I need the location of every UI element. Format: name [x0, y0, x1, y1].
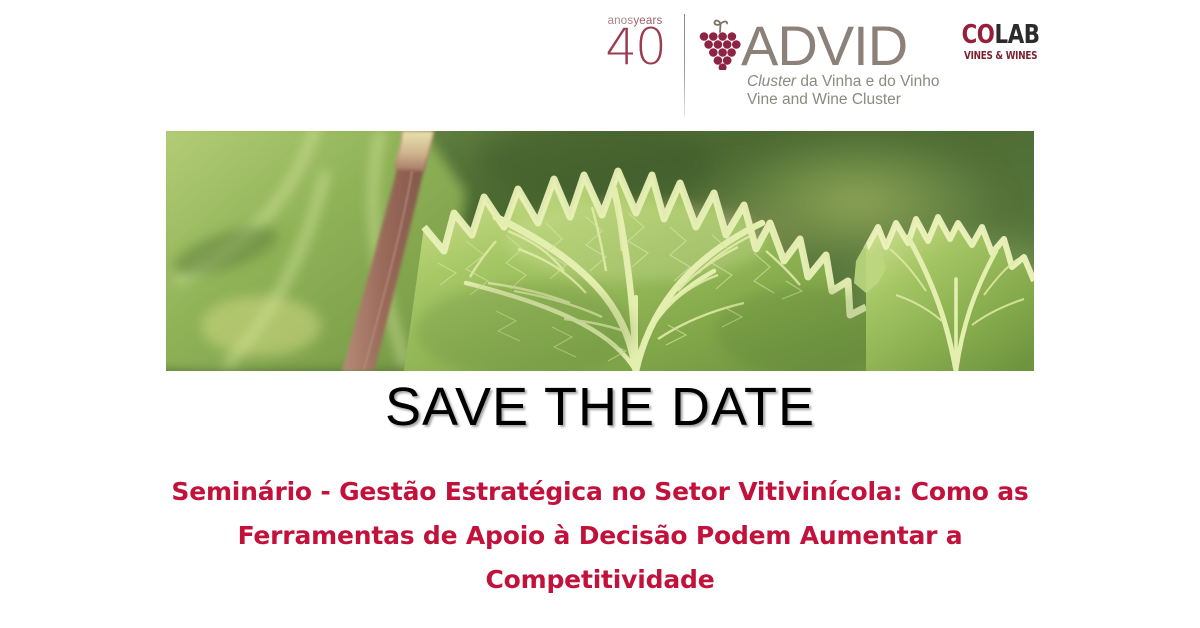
vertical-divider-icon — [684, 14, 685, 117]
advid-tagline-pt: Cluster da Vinha e do Vinho — [747, 73, 939, 91]
logo-group: anosyears 40 — [592, 10, 1049, 117]
advid-tagline-cluster-word: Cluster — [747, 73, 796, 90]
save-the-date-flyer: anosyears 40 — [0, 0, 1200, 628]
colab-wordmark-lab: LAB — [995, 20, 1040, 50]
advid-wordmark: ADVID — [741, 20, 907, 72]
seminar-title: Seminário - Gestão Estratégica no Setor … — [140, 470, 1060, 602]
grape-leaf-photo — [166, 131, 1034, 371]
advid-tagline: Cluster da Vinha e do Vinho Vine and Win… — [747, 73, 939, 108]
grape-cluster-icon — [697, 14, 743, 70]
save-the-date-heading: SAVE THE DATE — [0, 378, 1200, 436]
colab-logo: COLAB VINES & WINES — [953, 22, 1048, 62]
anniversary-number: 40 — [592, 25, 678, 69]
advid-tagline-en: Vine and Wine Cluster — [747, 91, 939, 109]
seminar-title-line-3: Competitividade — [140, 558, 1060, 602]
colab-wordmark: COLAB — [962, 22, 1040, 48]
seminar-title-line-2: Ferramentas de Apoio à Decisão Podem Aum… — [140, 514, 1060, 558]
advid-tagline-pt-rest: da Vinha e do Vinho — [796, 73, 939, 90]
anniversary-40-logo: anosyears 40 — [592, 10, 678, 69]
advid-brand-block: ADVID Cluster da Vinha e do Vinho Vine a… — [697, 10, 939, 108]
colab-subtitle: VINES & WINES — [963, 50, 1039, 62]
seminar-title-line-1: Seminário - Gestão Estratégica no Setor … — [140, 470, 1060, 514]
colab-wordmark-co: CO — [962, 20, 995, 50]
header-logo-bar: anosyears 40 — [0, 0, 1200, 128]
advid-brand-row: ADVID — [697, 14, 939, 72]
